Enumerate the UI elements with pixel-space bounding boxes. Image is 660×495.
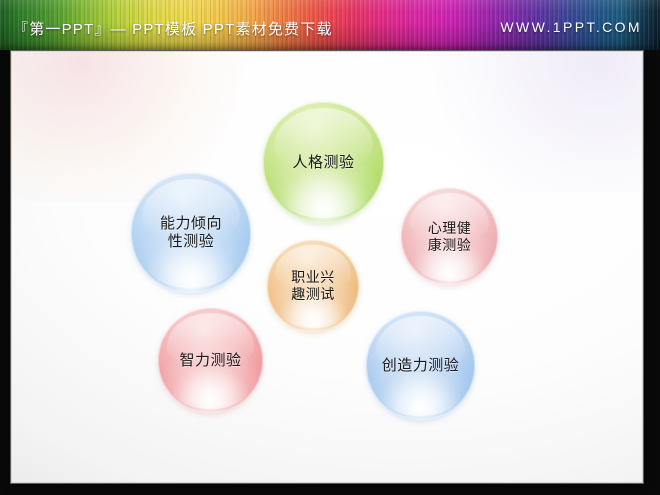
bubble-label: 职业兴 趣测试 [291,269,335,302]
header-website-url: WWW.1PPT.COM [500,19,642,35]
bubble-bottom-glow-icon [380,372,461,416]
bubble-intelligence-test[interactable]: 智力测验 [158,308,263,413]
rainbow-header-band: 『第一PPT』— PPT模板 PPT素材免费下载 WWW.1PPT.COM [0,0,660,50]
bubble-aptitude-test[interactable]: 能力倾向 性测验 [131,173,251,293]
slide-canvas: 人格测验能力倾向 性测验心理健 康测验职业兴 趣测试智力测验创造力测验 [11,51,643,483]
bubble-bottom-glow-icon [279,170,369,218]
bubble-mental-health-test[interactable]: 心理健 康测验 [401,188,498,285]
bubble-label: 人格测验 [292,154,354,172]
bubble-label: 能力倾向 性测验 [160,215,222,250]
bubble-creativity-test[interactable]: 创造力测验 [366,311,475,420]
presentation-slide: 『第一PPT』— PPT模板 PPT素材免费下载 WWW.1PPT.COM 人格… [0,0,660,495]
bubble-personality-test[interactable]: 人格测验 [263,102,384,223]
header-title: 『第一PPT』— PPT模板 PPT素材免费下载 [13,18,333,39]
bubble-label: 智力测验 [179,352,241,370]
bubble-label: 创造力测验 [382,357,460,375]
canvas-tint-right [412,52,642,192]
bubble-career-interest-test[interactable]: 职业兴 趣测试 [267,240,359,332]
canvas-tint-left [12,52,262,202]
bubble-label: 心理健 康测验 [428,220,472,253]
bubble-bottom-glow-icon [172,367,250,409]
